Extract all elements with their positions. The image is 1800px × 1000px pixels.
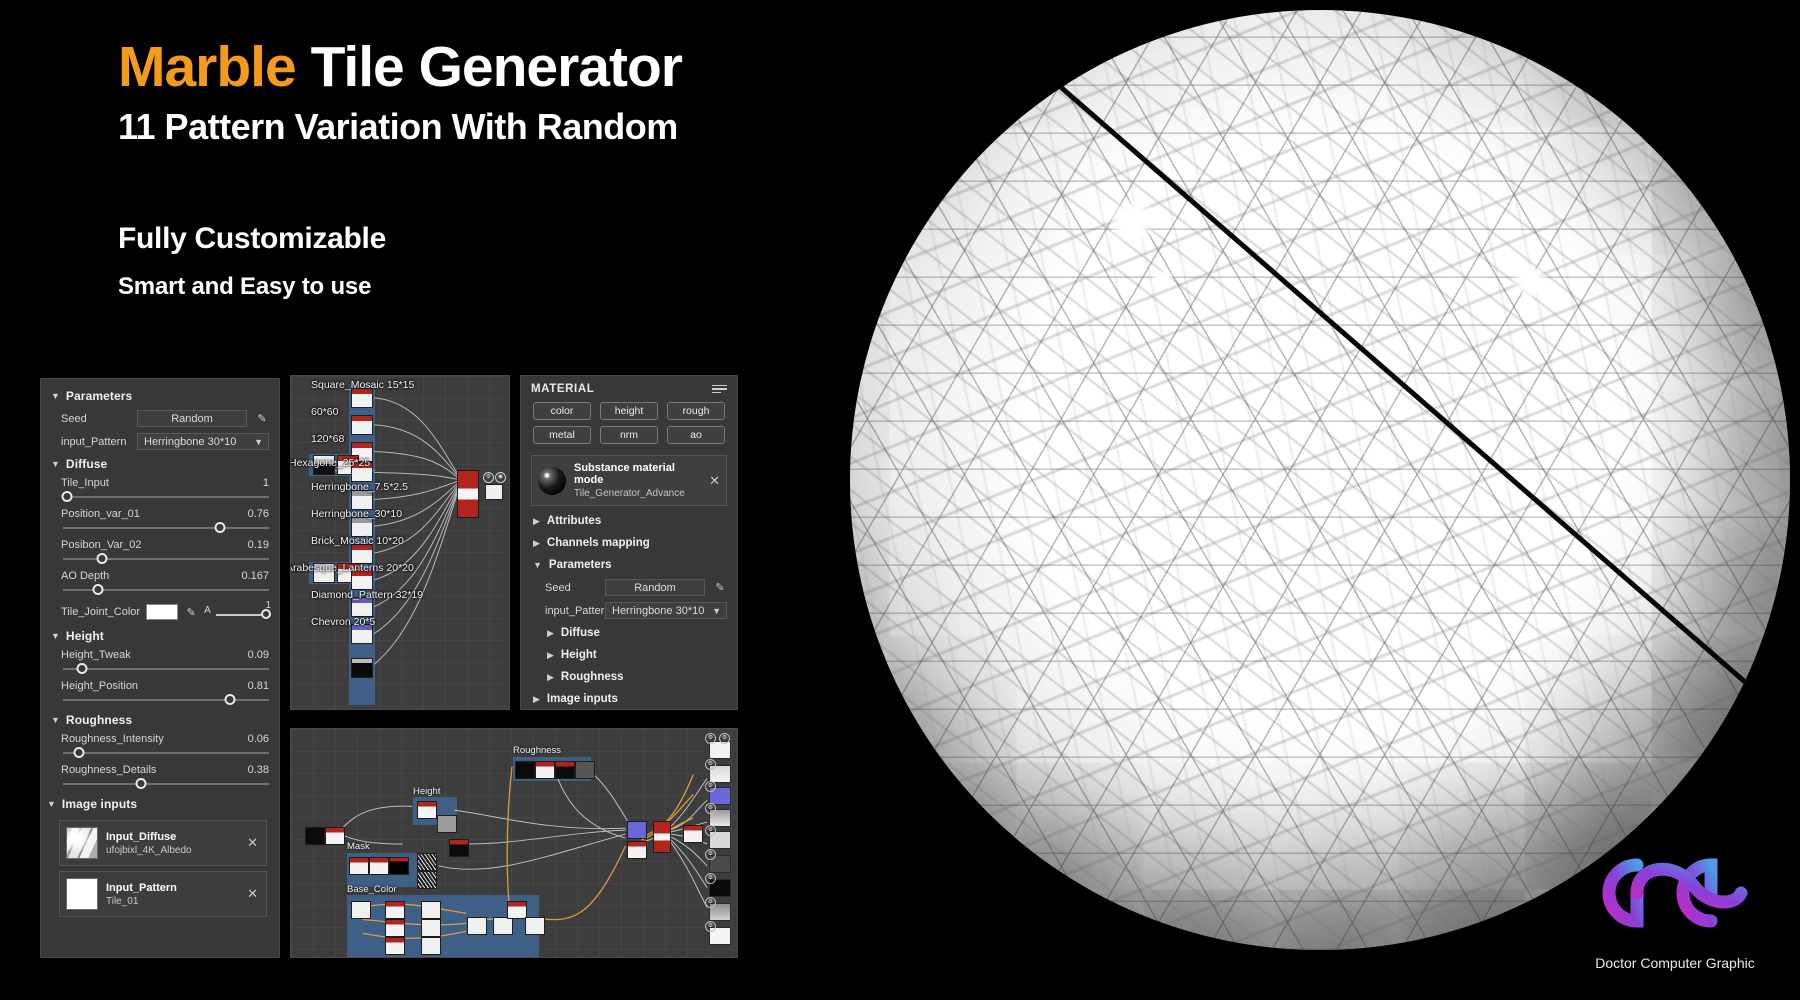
slider-knob[interactable] <box>224 694 235 705</box>
chevron-down-icon: ▼ <box>51 632 60 641</box>
graph-node-bc-j[interactable] <box>507 901 527 919</box>
slider-value: 0.81 <box>248 680 269 692</box>
group-label: Diffuse <box>66 457 107 471</box>
slider-row: Roughness_Details0.38 <box>41 762 279 790</box>
slider-value: 0.76 <box>248 508 269 520</box>
group-label: Height <box>66 629 104 643</box>
input-pattern-value: Herringbone 30*10 <box>612 605 704 617</box>
gear-icon[interactable]: ⚙ <box>483 472 494 483</box>
cg-infinity-icon <box>1575 845 1775 941</box>
graph-group-label: Roughness <box>513 745 561 756</box>
gear-icon[interactable]: ⚙ <box>719 733 730 744</box>
close-icon[interactable]: ✕ <box>247 835 260 851</box>
slider-knob[interactable] <box>136 778 147 789</box>
chevron-down-icon: ▼ <box>51 392 60 401</box>
substance-title: Substance material mode <box>574 462 701 486</box>
slider-track-position-var-02[interactable] <box>63 553 269 565</box>
slider-label: Tile_Input <box>61 477 109 489</box>
tagline-primary: Fully Customizable <box>118 222 386 256</box>
chevron-right-icon: ▶ <box>533 516 540 527</box>
pattern-node[interactable] <box>351 544 373 564</box>
chip-height[interactable]: height <box>600 402 658 420</box>
marble-sphere-preview <box>850 10 1790 950</box>
seed-button[interactable]: Random <box>137 410 247 427</box>
chevron-down-icon: ▼ <box>533 560 542 570</box>
group-header-diffuse[interactable]: ▼ Diffuse <box>41 453 279 475</box>
pattern-node-graph-panel[interactable]: ⚙ ◉ Square_Mosaic 15*15 60*60 120*68 Hex… <box>290 375 510 710</box>
channel-chip-row: metal nrm ao <box>521 423 737 447</box>
image-input-file: ufojbixl_4K_Albedo <box>106 845 239 856</box>
gear-icon[interactable]: ⚙ <box>705 759 716 770</box>
material-node-graph-panel[interactable]: ⚙ ⚙ ⚙ ⚙ ⚙ ⚙ ⚙ ⚙ ⚙ ⚙ Roughness Height Mas… <box>290 728 738 958</box>
slider-knob[interactable] <box>214 522 225 533</box>
group-header-image-inputs[interactable]: ▼ Image inputs <box>41 793 279 815</box>
node-label: Brick_Mosaic 10*20 <box>311 535 404 547</box>
gear-icon[interactable]: ⚙ <box>705 733 716 744</box>
alpha-label: A <box>204 605 211 616</box>
graph-node-bc-d[interactable] <box>385 937 405 955</box>
slider-knob[interactable] <box>74 747 85 758</box>
graph-node-rough-d[interactable] <box>575 761 595 779</box>
eyedropper-icon[interactable]: ✎ <box>184 606 198 619</box>
alpha-slider[interactable]: A 1 <box>204 603 271 621</box>
page-title: Marble Tile Generator <box>118 38 682 98</box>
hex-tile-pattern <box>850 10 1790 950</box>
graph-node-bc-e[interactable] <box>421 901 441 919</box>
material-seed-row: Seed Random ✎ <box>521 576 737 599</box>
slider-track-tile-input[interactable] <box>63 491 269 503</box>
substance-subtitle: Tile_Generator_Advance <box>574 488 701 499</box>
slider-label: Roughness_Intensity <box>61 733 164 745</box>
section-channels-mapping[interactable]: ▶ Channels mapping <box>521 532 737 554</box>
graph-node-mask-a[interactable] <box>349 857 369 875</box>
slider-knob[interactable] <box>261 609 271 619</box>
slider-row: Height_Tweak0.09 <box>41 647 279 675</box>
pencil-icon[interactable]: ✎ <box>713 581 727 594</box>
slider-knob[interactable] <box>93 584 104 595</box>
sphere-preview-icon <box>538 467 566 495</box>
graph-node-rough-b[interactable] <box>535 761 555 779</box>
graph-node-height-b[interactable] <box>437 815 457 833</box>
track <box>63 558 269 560</box>
graph-node-merge[interactable] <box>653 821 671 853</box>
slider-value: 0.09 <box>248 649 269 661</box>
graph-node-input[interactable] <box>305 827 325 845</box>
close-icon[interactable]: ✕ <box>247 886 260 902</box>
slider-label: Posibon_Var_02 <box>61 539 142 551</box>
substance-material-card[interactable]: Substance material mode Tile_Generator_A… <box>531 455 727 506</box>
graph-group-label: Base_Color <box>347 884 397 895</box>
pattern-node[interactable] <box>351 415 373 435</box>
graph-node-rough-a[interactable] <box>515 761 535 779</box>
output-node[interactable] <box>485 484 503 500</box>
gear-icon[interactable]: ⚙ <box>705 803 716 814</box>
specular-highlight <box>1510 265 1550 297</box>
input-pattern-label: input_Pattern <box>61 436 129 448</box>
section-parameters[interactable]: ▼ Parameters <box>521 554 737 576</box>
pencil-icon[interactable]: ✎ <box>255 412 269 425</box>
seed-label: Seed <box>61 413 129 425</box>
image-input-item[interactable]: Input_Pattern Tile_01 ✕ <box>59 871 267 917</box>
group-header-height[interactable]: ▼ Height <box>41 625 279 647</box>
gear-icon[interactable]: ⚙ <box>705 873 716 884</box>
graph-node-mask-b[interactable] <box>369 857 389 875</box>
slider-knob[interactable] <box>97 553 108 564</box>
seed-label: Seed <box>545 582 597 594</box>
chevron-down-icon: ▼ <box>254 437 263 447</box>
track <box>63 783 269 785</box>
slider-track-roughness-details[interactable] <box>63 778 269 790</box>
subsection-label: Height <box>561 649 597 661</box>
title-accent-word: Marble <box>118 35 296 99</box>
node-label: 120*68 <box>311 433 344 445</box>
slider-value: 0.38 <box>248 764 269 776</box>
slider-row: AO Depth0.167 <box>41 568 279 596</box>
group-label: Roughness <box>66 713 132 727</box>
close-icon[interactable]: ✕ <box>709 473 720 489</box>
image-input-name: Input_Pattern <box>106 882 239 894</box>
graph-node-mid[interactable] <box>449 839 469 857</box>
slider-row: Tile_Input1 <box>41 475 279 503</box>
slider-value: 0.06 <box>248 733 269 745</box>
specular-highlight <box>1150 270 1176 290</box>
chevron-right-icon: ▶ <box>547 628 554 639</box>
channel-chip-row: color height rough <box>521 399 737 423</box>
slider-label: AO Depth <box>61 570 109 582</box>
input-pattern-row: input_Pattern Herringbone 30*10 ▼ <box>41 430 279 453</box>
input-pattern-value: Herringbone 30*10 <box>144 436 236 448</box>
graph-node-bc-f[interactable] <box>421 919 441 937</box>
gear-icon[interactable]: ⚙ <box>705 781 716 792</box>
track <box>63 699 269 701</box>
slider-track-ao-depth[interactable] <box>63 584 269 596</box>
chip-metal[interactable]: metal <box>533 426 591 444</box>
graph-node-output-group[interactable] <box>683 825 703 843</box>
group-label: Parameters <box>66 389 132 403</box>
seed-row: Seed Random ✎ <box>41 407 279 430</box>
slider-track-roughness-intensity[interactable] <box>63 747 269 759</box>
pattern-node[interactable] <box>351 388 373 408</box>
subsection-height[interactable]: ▶ Height <box>521 644 737 666</box>
graph-group-label: Height <box>413 786 440 797</box>
specular-highlight <box>1105 200 1159 242</box>
graph-node-bc-g[interactable] <box>421 937 441 955</box>
subsection-label: Roughness <box>561 671 624 683</box>
chevron-down-icon: ▼ <box>51 460 60 469</box>
image-input-name: Input_Diffuse <box>106 831 239 843</box>
group-label: Image inputs <box>62 797 137 811</box>
brand-logo: Doctor Computer Graphic <box>1575 845 1775 975</box>
gear-icon[interactable]: ⚙ <box>705 849 716 860</box>
graph-node-mask-e[interactable] <box>417 871 437 889</box>
graph-node-bc-b[interactable] <box>385 901 405 919</box>
section-image-inputs[interactable]: ▶ Image inputs <box>521 688 737 710</box>
material-pattern-row: input_Pattern Herringbone 30*10 ▼ <box>521 599 737 622</box>
tile-joint-color-label: Tile_Joint_Color <box>61 606 140 618</box>
graph-node-bc-k[interactable] <box>525 917 545 935</box>
chevron-right-icon: ▶ <box>547 672 554 683</box>
thumbnail-pattern <box>66 878 98 910</box>
graph-node-blend-blue[interactable] <box>627 821 647 839</box>
track <box>63 527 269 529</box>
chevron-down-icon: ▼ <box>712 606 721 616</box>
material-panel: MATERIAL color height rough metal nrm ao… <box>520 375 738 710</box>
input-pattern-select[interactable]: Herringbone 30*10 ▼ <box>137 433 269 450</box>
pattern-node[interactable] <box>351 658 373 678</box>
graph-node-bc-c[interactable] <box>385 919 405 937</box>
chip-ao[interactable]: ao <box>667 426 725 444</box>
chevron-right-icon: ▶ <box>533 694 540 705</box>
graph-node-mask-d[interactable] <box>417 853 437 871</box>
graph-node[interactable] <box>325 827 345 845</box>
graph-group-label: Mask <box>347 841 370 852</box>
thumbnail-diffuse <box>66 827 98 859</box>
slider-knob[interactable] <box>62 491 73 502</box>
slider-label: Height_Tweak <box>61 649 131 661</box>
chevron-down-icon: ▼ <box>47 800 56 809</box>
node-label: Herringbone_7.5*2.5 <box>311 481 408 493</box>
node-label: 60*60 <box>311 406 338 418</box>
tile-joint-color-row: Tile_Joint_Color ✎ A 1 <box>41 599 279 625</box>
slider-track-position-var-01[interactable] <box>63 522 269 534</box>
slider-value: 0.167 <box>241 570 269 582</box>
chevron-right-icon: ▶ <box>547 650 554 661</box>
subsection-label: Diffuse <box>561 627 600 639</box>
slider-row: Height_Position0.81 <box>41 678 279 706</box>
slider-label: Height_Position <box>61 680 138 692</box>
material-title: MATERIAL <box>531 383 594 395</box>
graph-node-blend-red[interactable] <box>627 841 647 859</box>
group-header-parameters[interactable]: ▼ Parameters <box>41 385 279 407</box>
color-swatch[interactable] <box>146 604 178 620</box>
hamburger-icon[interactable] <box>712 385 727 394</box>
eye-icon[interactable]: ◉ <box>495 472 506 483</box>
graph-node-rough-c[interactable] <box>555 761 575 779</box>
node-label: Herringbone_30*10 <box>311 508 402 520</box>
graph-node-bc-i[interactable] <box>493 917 513 935</box>
section-label: Image inputs <box>547 693 618 705</box>
subsection-diffuse[interactable]: ▶ Diffuse <box>521 622 737 644</box>
seed-button[interactable]: Random <box>605 579 705 596</box>
graph-node-bc-h[interactable] <box>467 917 487 935</box>
section-attributes[interactable]: ▶ Attributes <box>521 510 737 532</box>
page-subtitle: 11 Pattern Variation With Random <box>118 106 682 148</box>
node-label: Diamond_Pattern 32*19 <box>311 589 423 601</box>
pattern-node[interactable] <box>351 517 373 537</box>
slider-row: Position_var_010.76 <box>41 506 279 534</box>
slider-row: Posibon_Var_020.19 <box>41 537 279 565</box>
slider-row: Roughness_Intensity0.06 <box>41 731 279 759</box>
headline-block: Marble Tile Generator 11 Pattern Variati… <box>118 38 682 148</box>
node-label: Square_Mosaic 15*15 <box>311 379 414 391</box>
chevron-down-icon: ▼ <box>51 716 60 725</box>
chip-nrm[interactable]: nrm <box>600 426 658 444</box>
track <box>63 668 269 670</box>
group-header-roughness[interactable]: ▼ Roughness <box>41 709 279 731</box>
material-header: MATERIAL <box>521 376 737 399</box>
diffuse-slider-list: Tile_Input1 Position_var_010.76 Posibon_… <box>41 475 279 596</box>
pattern-node[interactable] <box>351 490 373 510</box>
track <box>216 614 267 616</box>
slider-label: Roughness_Details <box>61 764 156 776</box>
section-label: Channels mapping <box>547 537 650 549</box>
node-label: Arabesque_Lanterns 20*20 <box>290 562 414 574</box>
section-label: Attributes <box>547 515 601 527</box>
gear-icon[interactable]: ⚙ <box>705 825 716 836</box>
graph-node-mask-c[interactable] <box>389 857 409 875</box>
chip-rough[interactable]: rough <box>667 402 725 420</box>
slider-value: 0.19 <box>248 539 269 551</box>
image-input-item[interactable]: Input_Diffuse ufojbixl_4K_Albedo ✕ <box>59 820 267 866</box>
slider-knob[interactable] <box>76 663 87 674</box>
chip-color[interactable]: color <box>533 402 591 420</box>
image-input-file: Tile_01 <box>106 896 239 907</box>
slider-label: Position_var_01 <box>61 508 140 520</box>
slider-value: 1 <box>263 477 269 489</box>
output-switch-node[interactable] <box>457 470 479 518</box>
node-label: Hexagone_25*25 <box>290 457 370 469</box>
section-label: Parameters <box>549 559 612 571</box>
chevron-right-icon: ▶ <box>533 538 540 549</box>
title-rest: Tile Generator <box>296 35 682 99</box>
input-pattern-label: input_Pattern <box>545 605 597 617</box>
brand-caption: Doctor Computer Graphic <box>1575 955 1775 971</box>
track <box>63 496 269 498</box>
tagline-secondary: Smart and Easy to use <box>118 273 371 301</box>
node-label: Chevron 20*5 <box>311 616 375 628</box>
slider-track-height-position[interactable] <box>63 694 269 706</box>
gear-icon[interactable]: ⚙ <box>705 897 716 908</box>
slider-track-height-tweak[interactable] <box>63 663 269 675</box>
graph-node-bc-a[interactable] <box>351 901 371 919</box>
subsection-roughness[interactable]: ▶ Roughness <box>521 666 737 688</box>
gear-icon[interactable]: ⚙ <box>705 921 716 932</box>
input-pattern-select[interactable]: Herringbone 30*10 ▼ <box>605 602 727 619</box>
parameters-panel: ▼ Parameters Seed Random ✎ input_Pattern… <box>40 378 280 958</box>
track <box>63 752 269 754</box>
graph-node-height-a[interactable] <box>417 801 437 819</box>
